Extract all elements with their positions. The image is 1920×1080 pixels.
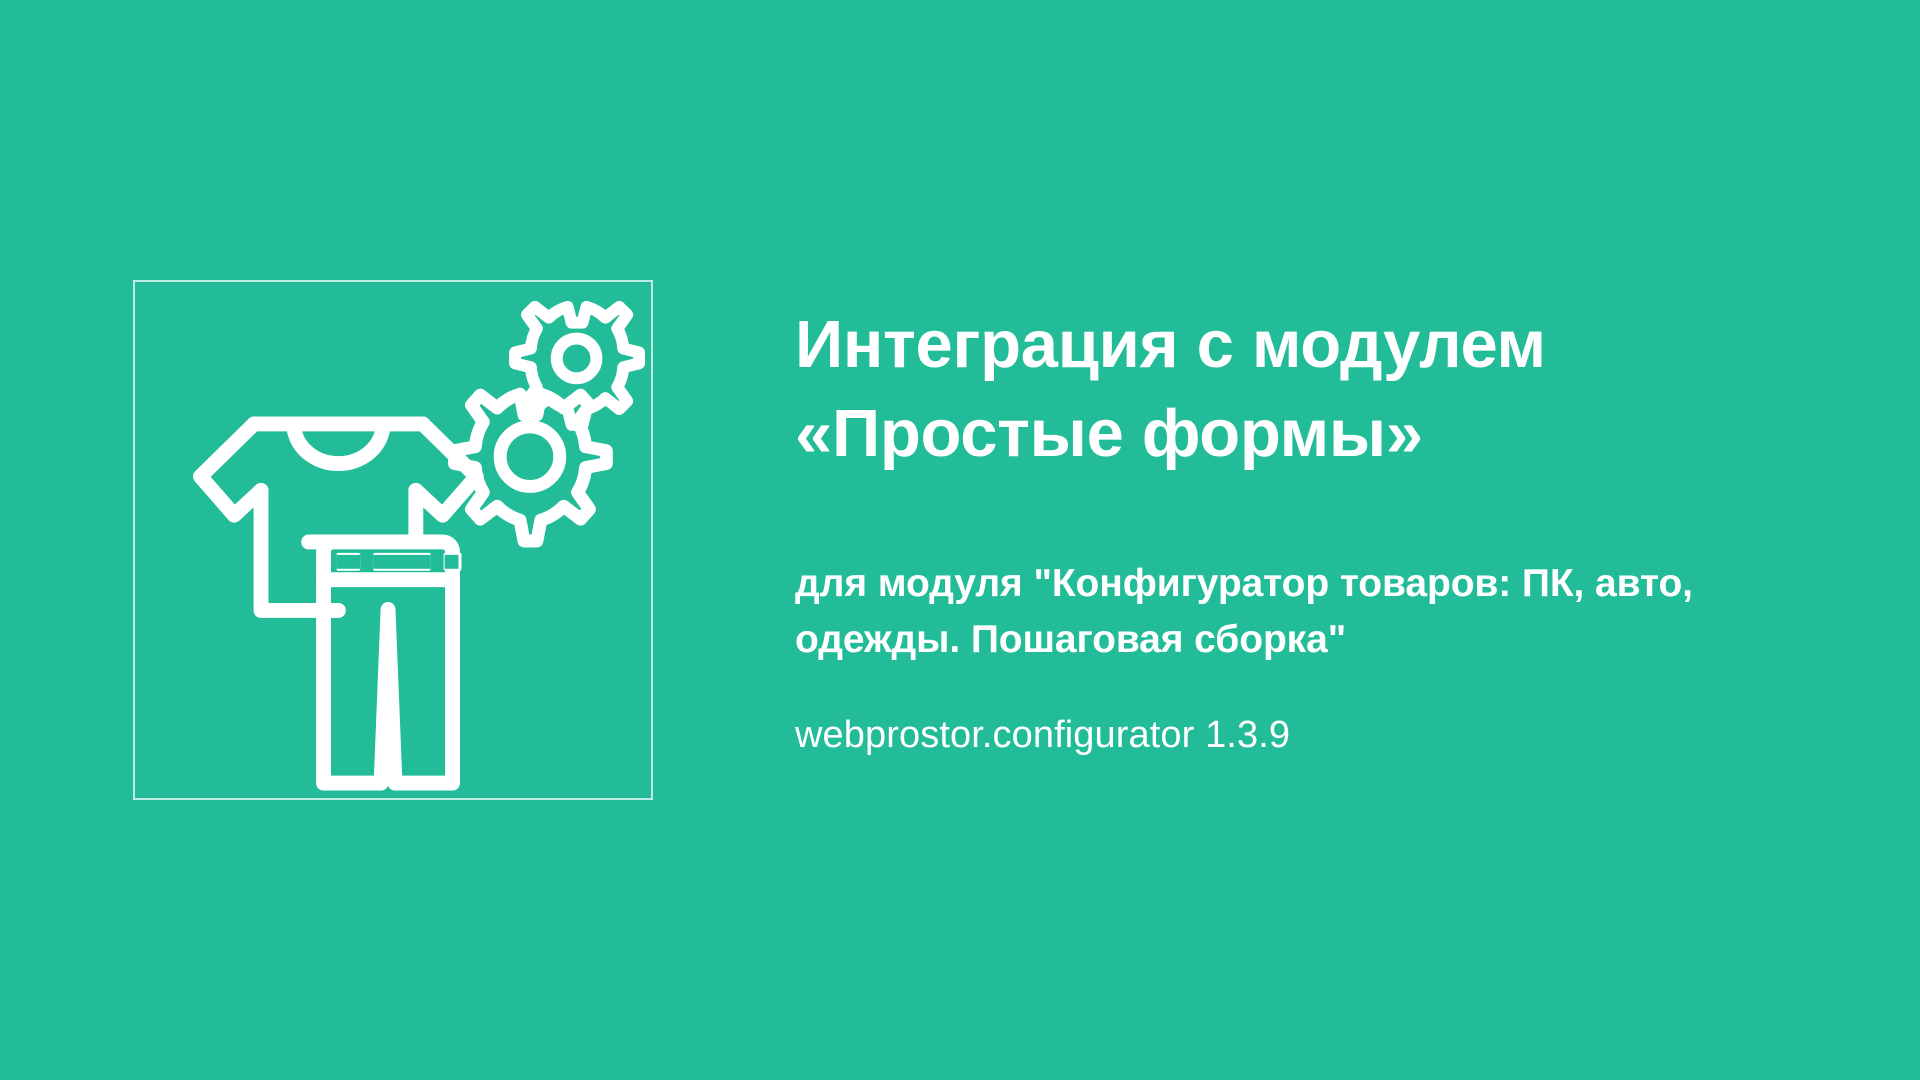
page-title: Интеграция с модулем «Простые формы» [795, 300, 1865, 478]
clothing-and-gears-icon [135, 282, 651, 798]
pants-icon [309, 542, 453, 783]
illustration-frame [133, 280, 653, 800]
gear-small-icon [515, 307, 639, 425]
promo-banner: Интеграция с модулем «Простые формы» для… [0, 0, 1920, 1080]
page-subtitle: для модуля "Конфигуратор товаров: ПК, ав… [795, 478, 1865, 668]
pants-waistband-mask [336, 555, 458, 569]
module-version-label: webprostor.configurator 1.3.9 [795, 668, 1865, 758]
text-column: Интеграция с модулем «Простые формы» для… [795, 300, 1865, 758]
